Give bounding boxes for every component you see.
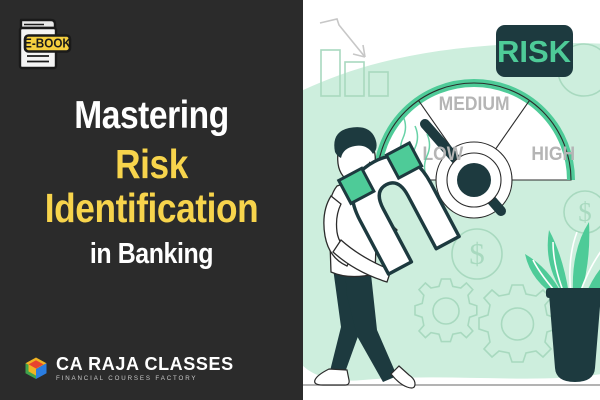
title-line-1: Mastering	[21, 96, 282, 135]
risk-tag-label: RISK	[497, 34, 572, 69]
title-line-3: Identification	[21, 188, 282, 229]
illustration-panel: $ $	[303, 0, 600, 400]
ebook-icon: E-BOOK	[14, 12, 76, 76]
gauge-pivot	[457, 163, 491, 197]
svg-text:$: $	[578, 197, 592, 227]
ebook-cover: E-BOOK Mastering Risk Identification in …	[0, 0, 600, 400]
gauge-label-medium: MEDIUM	[439, 92, 510, 114]
brand-tagline: FINANCIAL COURSES FACTORY	[56, 376, 234, 382]
risk-gauge-illustration: $ $	[303, 0, 600, 400]
cube-logo-icon	[24, 356, 48, 380]
svg-text:$: $	[469, 236, 485, 271]
left-text-panel: E-BOOK Mastering Risk Identification in …	[0, 0, 303, 400]
brand-logo: CA RAJA CLASSES FINANCIAL COURSES FACTOR…	[24, 355, 234, 382]
plant-pot	[549, 294, 600, 382]
title-line-4: in Banking	[21, 240, 282, 269]
title-line-2: Risk	[21, 144, 282, 185]
gauge-label-high: HIGH	[531, 142, 575, 164]
page-title: Mastering Risk Identification in Banking	[0, 96, 303, 269]
ebook-badge-label: E-BOOK	[24, 36, 71, 50]
brand-name: CA RAJA CLASSES	[56, 355, 234, 373]
